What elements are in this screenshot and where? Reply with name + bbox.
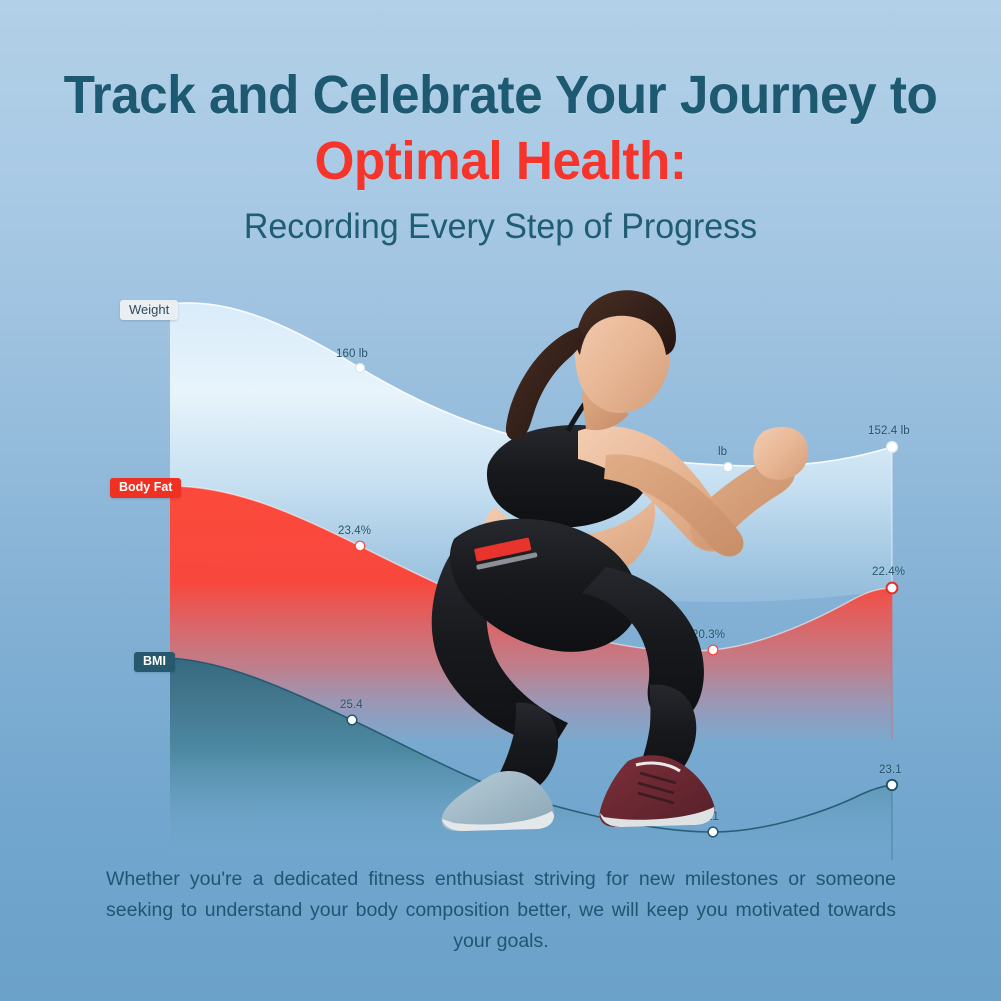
marker-bmi-21[interactable]: [708, 827, 718, 837]
point-label-weight-mid: lb: [718, 446, 727, 458]
marker-bodyfat-224[interactable]: [887, 583, 898, 594]
page-title-accent: Optimal Health:: [315, 131, 687, 191]
point-label-weight-start: 160 lb: [336, 348, 368, 360]
marker-weight-160[interactable]: [355, 363, 364, 372]
marker-bodyfat-234[interactable]: [355, 541, 365, 551]
marker-weight-152[interactable]: [887, 442, 898, 453]
body-metrics-chart: Weight Body Fat BMI 160 lb lb 152.4 lb 2…: [0, 270, 1001, 860]
marker-bodyfat-203[interactable]: [708, 645, 718, 655]
footer-paragraph: Whether you're a dedicated fitness enthu…: [106, 864, 896, 957]
header: Track and Celebrate Your Journey to Opti…: [0, 62, 1001, 250]
series-badge-body-fat[interactable]: Body Fat: [110, 478, 181, 498]
point-label-bmi-3: 21: [706, 811, 719, 823]
page-title-main: Track and Celebrate Your Journey to: [64, 65, 938, 125]
marker-weight-mid[interactable]: [723, 462, 732, 471]
series-badge-bmi[interactable]: BMI: [134, 652, 175, 672]
marker-bmi-254[interactable]: [347, 715, 357, 725]
point-label-bodyfat-mid: 20.3%: [692, 629, 725, 641]
series-badge-weight[interactable]: Weight: [120, 300, 178, 320]
point-label-bodyfat-start: 23.4%: [338, 525, 371, 537]
point-label-bmi-1: 25.4: [340, 699, 363, 711]
point-label-bmi-4: 23.1: [879, 764, 902, 776]
page-title: Track and Celebrate Your Journey to Opti…: [25, 62, 976, 194]
marker-bmi-227[interactable]: [525, 794, 535, 804]
page-subtitle: Recording Every Step of Progress: [15, 204, 986, 250]
point-label-bmi-2: 22.7: [518, 778, 541, 790]
footer: Whether you're a dedicated fitness enthu…: [106, 864, 896, 957]
marker-bmi-231[interactable]: [887, 780, 897, 790]
chart-svg: [0, 270, 1001, 860]
point-label-bodyfat-end: 22.4%: [872, 566, 905, 578]
point-label-weight-end: 152.4 lb: [868, 425, 910, 437]
